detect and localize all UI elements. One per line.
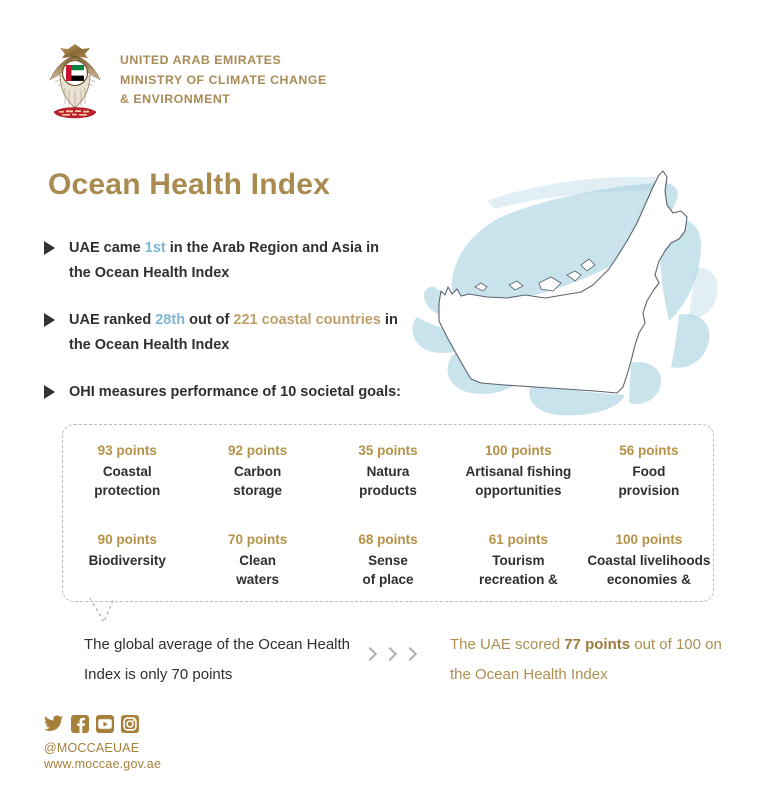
goal-label-line2: provision — [587, 481, 711, 500]
goal-label-line2: economies & — [587, 570, 711, 589]
goal-sense-of-place: 68 points Sense of place — [323, 529, 453, 589]
list-item: UAE ranked 28th out of 221 coastal count… — [44, 308, 404, 358]
uae-score-text: The UAE scored 77 points out of 100 on t… — [450, 630, 740, 690]
goal-label-line2: recreation & — [456, 570, 580, 589]
goal-coastal-livelihoods: 100 points Coastal livelihoods economies… — [584, 529, 714, 589]
bullet-text-3: OHI measures performance of 10 societal … — [69, 380, 401, 405]
goal-points: 93 points — [65, 440, 189, 462]
key-facts-list: UAE came 1st in the Arab Region and Asia… — [44, 236, 404, 427]
goal-points: 70 points — [195, 529, 319, 551]
goal-label-line1: Coastal — [65, 462, 189, 481]
triangle-bullet-icon — [44, 385, 55, 399]
goal-label-line2: storage — [195, 481, 319, 500]
bullet-2-part-0: UAE ranked — [69, 312, 155, 328]
chevron-right-icon — [405, 648, 414, 662]
ministry-name: UNITED ARAB EMIRATES MINISTRY OF CLIMATE… — [120, 40, 327, 110]
youtube-icon[interactable] — [96, 715, 114, 733]
instagram-icon[interactable] — [121, 715, 139, 733]
goal-label-line1: Sense — [326, 551, 450, 570]
footer: @MOCCAEUAE www.moccae.gov.ae — [44, 714, 161, 771]
chevron-right-icon — [365, 648, 374, 662]
goal-points: 56 points — [587, 440, 711, 462]
goal-natural-products: 35 points Natura products — [323, 440, 453, 500]
goal-label-line2: of place — [326, 570, 450, 589]
goal-label-line1: Tourism — [456, 551, 580, 570]
goal-label-line1: Food — [587, 462, 711, 481]
bullet-2-countries: 221 coastal countries — [233, 312, 381, 328]
callout-tail — [88, 596, 124, 626]
facebook-icon[interactable] — [71, 715, 89, 733]
goal-label-line2: opportunities — [456, 481, 580, 500]
goals-row-1: 93 points Coastal protection 92 points C… — [62, 440, 714, 500]
global-average-text: The global average of the Ocean Health I… — [84, 630, 359, 690]
ministry-line-3: & ENVIRONMENT — [120, 90, 327, 110]
bullet-text-1: UAE came 1st in the Arab Region and Asia… — [69, 236, 404, 286]
bullet-1-part-0: UAE came — [69, 240, 145, 256]
ministry-line-1: UNITED ARAB EMIRATES — [120, 51, 327, 71]
chevron-right-icon — [385, 648, 394, 662]
goal-points: 100 points — [456, 440, 580, 462]
chevron-arrows — [365, 648, 414, 662]
goal-label-line2: products — [326, 481, 450, 500]
goal-label-line1: Carbon — [195, 462, 319, 481]
goal-clean-waters: 70 points Clean waters — [192, 529, 322, 589]
goal-label-line1: Biodiversity — [65, 551, 189, 570]
goal-label-line2: protection — [65, 481, 189, 500]
uae-score-pre: The UAE scored — [450, 636, 564, 653]
page-title: Ocean Health Index — [48, 168, 330, 202]
ministry-header: UNITED ARAB EMIRATES MINISTRY OF CLIMATE… — [44, 40, 327, 132]
bullet-text-2: UAE ranked 28th out of 221 coastal count… — [69, 308, 404, 358]
infographic-page: UNITED ARAB EMIRATES MINISTRY OF CLIMATE… — [0, 0, 768, 810]
bullet-2-rank: 28th — [155, 312, 185, 328]
website-url[interactable]: www.moccae.gov.ae — [44, 757, 161, 771]
goal-points: 90 points — [65, 529, 189, 551]
goal-label-line1: Clean — [195, 551, 319, 570]
social-handle[interactable]: @MOCCAEUAE — [44, 741, 161, 755]
ministry-line-2: MINISTRY OF CLIMATE CHANGE — [120, 71, 327, 91]
goal-label-line2: waters — [195, 570, 319, 589]
goal-label-line1: Coastal livelihoods — [587, 551, 711, 570]
uae-falcon-emblem — [44, 40, 106, 132]
bullet-2-part-2: out of — [185, 312, 233, 328]
goal-tourism-recreation: 61 points Tourism recreation & — [453, 529, 583, 589]
goal-food-provision: 56 points Food provision — [584, 440, 714, 500]
goal-biodiversity: 90 points Biodiversity — [62, 529, 192, 589]
list-item: UAE came 1st in the Arab Region and Asia… — [44, 236, 404, 286]
goal-points: 35 points — [326, 440, 450, 462]
twitter-icon[interactable] — [44, 715, 64, 733]
goals-grid: 93 points Coastal protection 92 points C… — [62, 440, 714, 589]
goal-carbon-storage: 92 points Carbon storage — [192, 440, 322, 500]
goal-artisanal-fishing: 100 points Artisanal fishing opportuniti… — [453, 440, 583, 500]
list-item: OHI measures performance of 10 societal … — [44, 380, 404, 405]
goal-points: 92 points — [195, 440, 319, 462]
goal-label-line1: Natura — [326, 462, 450, 481]
goal-label-line1: Artisanal fishing — [456, 462, 580, 481]
goals-row-2: 90 points Biodiversity 70 points Clean w… — [62, 529, 714, 589]
goal-points: 100 points — [587, 529, 711, 551]
social-links — [44, 714, 161, 734]
uae-score-value: 77 points — [564, 636, 630, 653]
uae-map-illustration — [395, 165, 755, 420]
bullet-1-rank: 1st — [145, 240, 166, 256]
goal-points: 61 points — [456, 529, 580, 551]
triangle-bullet-icon — [44, 241, 55, 255]
goal-coastal-protection: 93 points Coastal protection — [62, 440, 192, 500]
goal-points: 68 points — [326, 529, 450, 551]
triangle-bullet-icon — [44, 313, 55, 327]
